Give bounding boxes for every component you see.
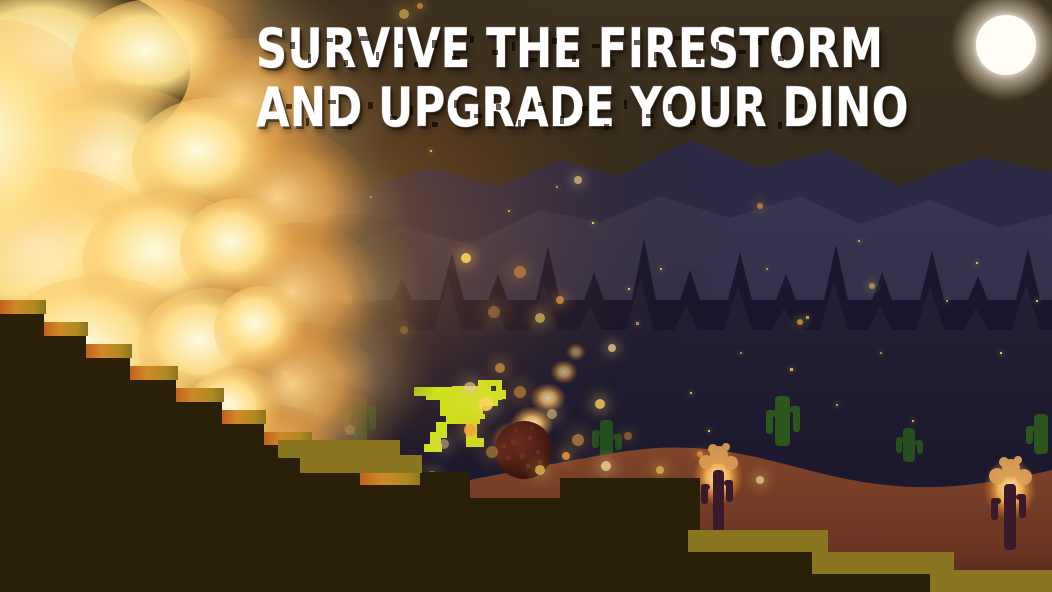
ember-particle	[254, 240, 262, 248]
ember-spark	[370, 196, 372, 198]
ember-spark	[324, 164, 326, 166]
platform-1	[278, 440, 400, 458]
ember-particle	[293, 249, 299, 255]
ember-spark	[858, 240, 860, 242]
ember-spark	[690, 392, 692, 394]
ember-particle	[178, 340, 186, 348]
ember-particle	[8, 222, 16, 230]
ember-particle	[756, 476, 764, 484]
ember-particle	[145, 395, 155, 405]
ember-particle	[125, 287, 131, 293]
ember-particle	[601, 461, 611, 471]
meteor-texture	[502, 426, 542, 468]
ember-spark	[556, 186, 558, 188]
ember-particle	[757, 203, 763, 209]
ember-particle	[282, 370, 290, 378]
ember-particle	[562, 452, 570, 460]
red-hill	[440, 448, 1052, 592]
moon-glow	[950, 0, 1052, 101]
platform-1b	[300, 455, 422, 473]
ember-particle	[100, 434, 108, 442]
ember-particle	[574, 176, 582, 184]
game-screenshot: SURVIVE THE FIRESTORM AND UPGRADE YOUR D…	[0, 0, 1052, 592]
ember-particle	[55, 461, 65, 471]
ember-spark	[836, 404, 838, 406]
ember-spark	[790, 368, 793, 371]
cactus-green-2	[592, 420, 622, 460]
meteor-trail	[490, 343, 586, 460]
ember-spark	[508, 210, 510, 212]
ember-particle	[296, 228, 304, 236]
mountain-far	[0, 140, 1052, 592]
ember-spark	[766, 268, 768, 270]
ember-particle	[486, 446, 498, 458]
cactus-green-5	[1026, 414, 1048, 454]
cactus-green-3	[766, 396, 800, 446]
cactus-green-1	[344, 398, 376, 446]
ember-spark	[592, 222, 594, 224]
ground-left-dark	[0, 300, 420, 592]
ember-particle	[404, 466, 412, 474]
cactus-green-4	[896, 428, 923, 462]
platform-2	[688, 530, 828, 552]
moon	[976, 15, 1036, 75]
ember-spark	[708, 430, 710, 432]
ember-spark	[806, 316, 809, 319]
ember-particle	[427, 471, 437, 481]
forest-base-shadow	[0, 330, 1052, 592]
ember-particle	[461, 253, 471, 263]
ember-spark	[946, 300, 948, 302]
ember-particle	[345, 425, 355, 435]
ember-particle	[439, 439, 449, 449]
ember-particle	[797, 319, 803, 325]
ember-particle	[372, 462, 380, 470]
ember-particle	[535, 313, 545, 323]
ember-particle	[129, 243, 143, 257]
ember-particle	[248, 496, 256, 504]
ember-particle	[48, 206, 56, 214]
mountain-near	[0, 196, 1052, 592]
burning-cactus-2	[983, 454, 1037, 550]
ember-particle	[514, 266, 526, 278]
ember-spark	[912, 420, 914, 422]
ember-particle	[495, 363, 505, 373]
ember-particle	[210, 388, 218, 396]
platform-4	[930, 570, 1052, 592]
forest-back	[0, 238, 1052, 592]
ember-particle	[514, 386, 526, 398]
ember-particle	[343, 295, 353, 305]
ember-particle	[400, 326, 408, 334]
ember-particle	[608, 344, 616, 352]
ember-particle	[547, 409, 557, 419]
ember-particle	[244, 426, 252, 434]
meteor	[495, 421, 553, 479]
ground-left-lit-edge	[0, 300, 422, 485]
burning-cactus-1	[692, 443, 744, 532]
ember-particle	[488, 306, 500, 318]
ember-particle	[572, 434, 584, 446]
ember-particle	[556, 296, 564, 304]
ember-particle	[195, 481, 205, 491]
ember-particle	[869, 283, 875, 289]
ember-particle	[595, 399, 605, 409]
ember-particle	[18, 404, 26, 412]
ember-particle	[479, 397, 493, 411]
ember-particle	[417, 3, 423, 9]
ember-spark	[636, 322, 639, 325]
ember-spark	[430, 150, 432, 152]
platform-3	[812, 552, 954, 574]
ember-spark	[976, 262, 978, 264]
player-dino	[414, 380, 506, 452]
ember-spark	[880, 352, 882, 354]
ember-particle	[535, 465, 545, 475]
forest-front	[0, 234, 1052, 592]
ember-particle	[94, 314, 102, 322]
promo-title-line-2: AND UPGRADE YOUR DINO	[256, 83, 712, 133]
ember-spark	[1036, 300, 1038, 302]
ember-spark	[660, 268, 662, 270]
ember-spark	[628, 288, 630, 290]
platform-slabs	[0, 300, 1052, 592]
ember-particle	[624, 432, 632, 440]
ember-particle	[314, 406, 322, 414]
ember-spark	[740, 352, 742, 354]
ember-particle	[464, 382, 476, 394]
ember-spark	[1000, 352, 1002, 354]
ground-right-dark	[420, 472, 1052, 592]
ember-particle	[464, 424, 476, 436]
ember-particle	[697, 451, 703, 457]
promo-title-line-1: SURVIVE THE FIRESTORM	[256, 24, 712, 74]
ember-particle	[656, 466, 664, 474]
promo-title: SURVIVE THE FIRESTORM AND UPGRADE YOUR D…	[256, 24, 826, 132]
